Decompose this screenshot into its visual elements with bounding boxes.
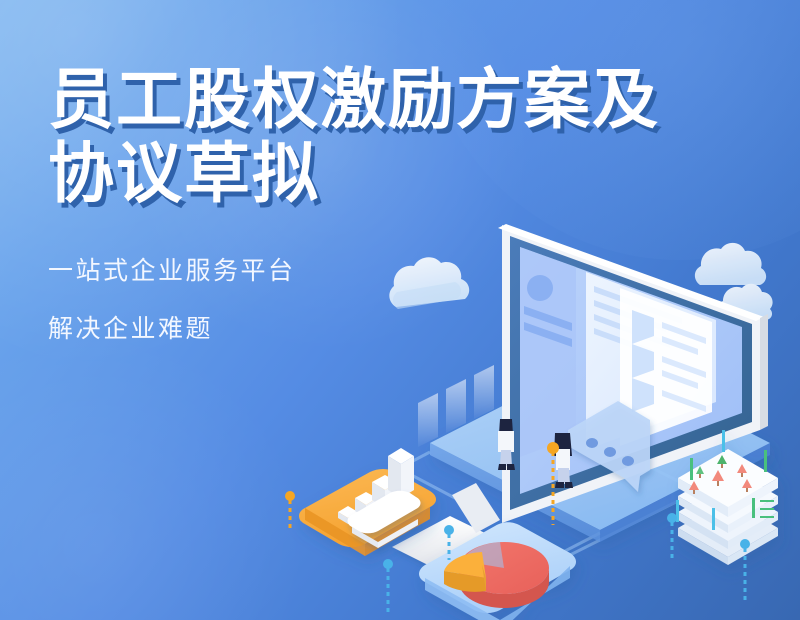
promo-banner: 员工股权激励方案及 协议草拟 一站式企业服务平台 解决企业难题 [0, 0, 800, 620]
banner-copy: 员工股权激励方案及 协议草拟 一站式企业服务平台 解决企业难题 [48, 62, 788, 372]
page-title-line-1: 员工股权激励方案及 [48, 62, 788, 136]
subtitle-line-1: 一站式企业服务平台 [48, 256, 788, 286]
subtitle-line-2: 解决企业难题 [48, 314, 788, 344]
banner-subtitle: 一站式企业服务平台 解决企业难题 [48, 256, 788, 344]
page-title-line-2: 协议草拟 [48, 136, 788, 210]
